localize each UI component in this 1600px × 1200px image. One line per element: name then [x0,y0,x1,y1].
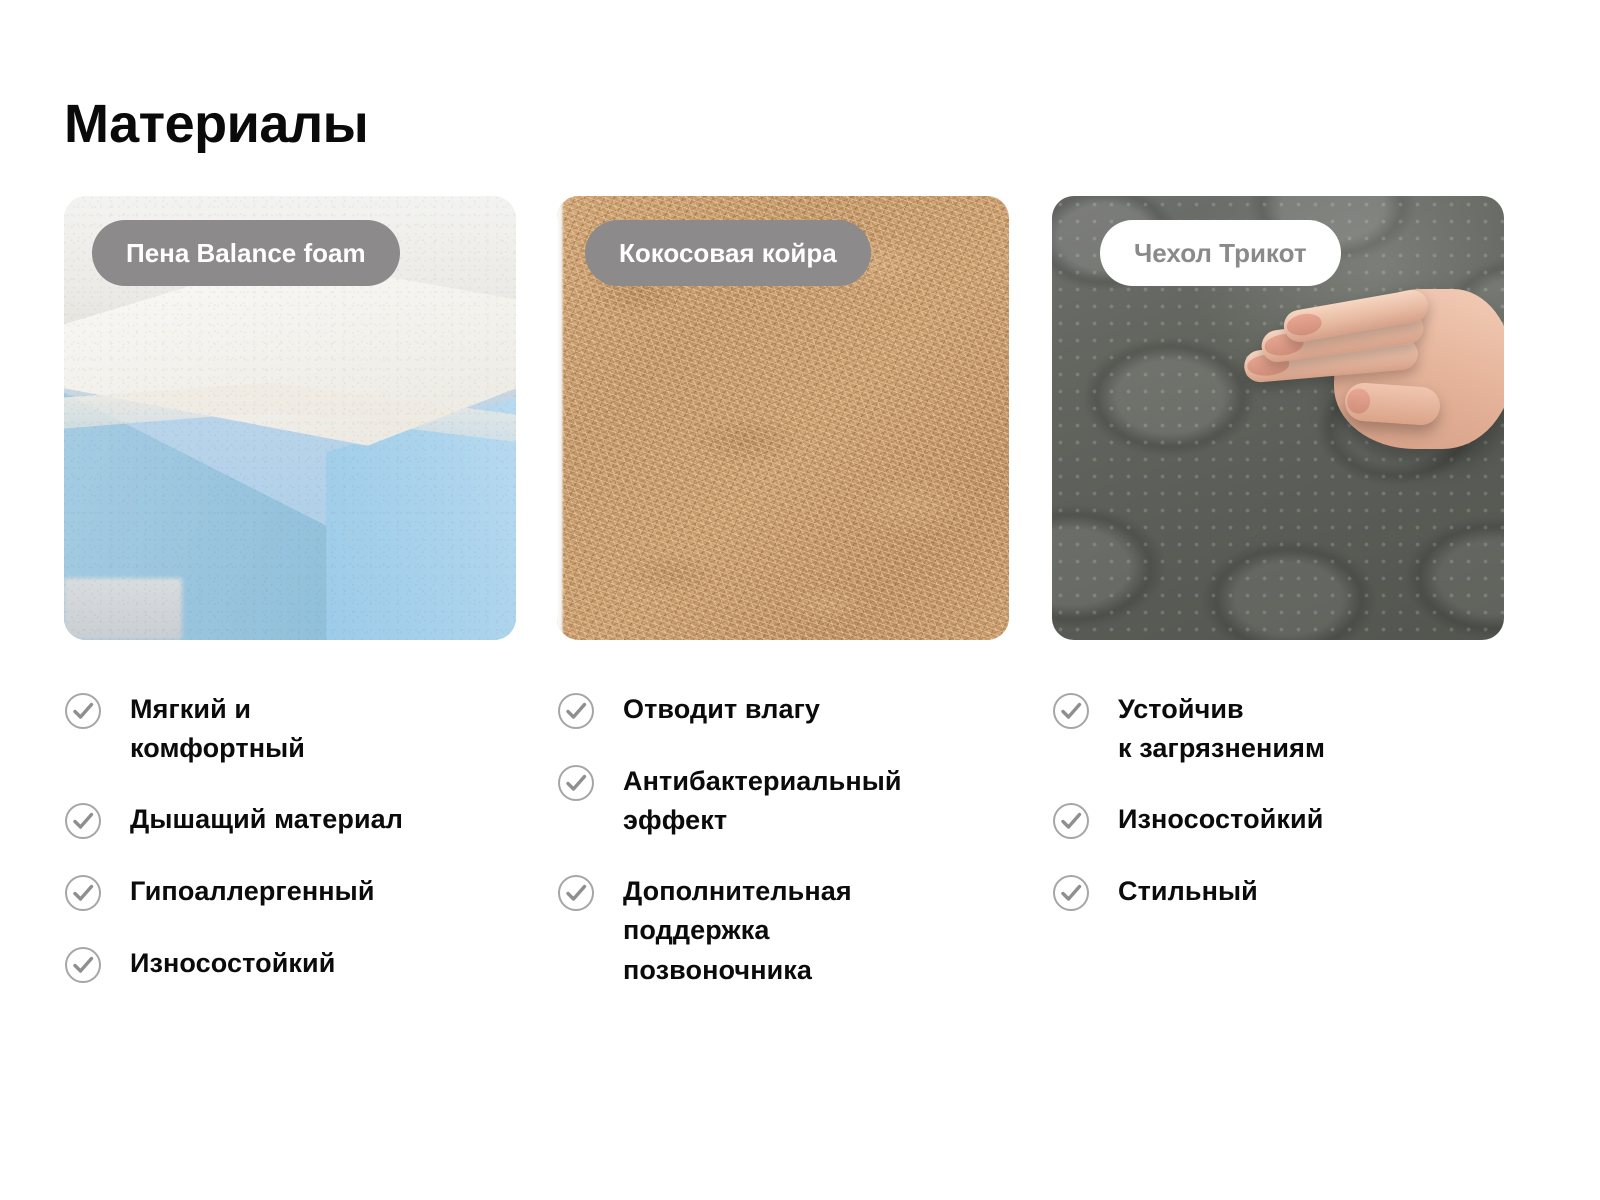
list-item: Антибактериальный эффект [557,762,1009,840]
check-circle-icon [64,802,102,840]
feature-list-foam: Мягкий и комфортный Дышащий материал Гип… [64,690,516,1016]
feature-label: Дышащий материал [130,800,403,839]
feature-label: Износостойкий [130,944,335,983]
feature-label: Стильный [1118,872,1258,911]
check-circle-icon [557,874,595,912]
materials-page: Материалы Пена Balance foam [0,0,1600,1200]
feature-list-coir: Отводит влагу Антибактериальный эффект Д… [557,690,1009,1022]
feature-label: Мягкий и комфортный [130,690,305,768]
material-cards-row: Пена Balance foam Кокосовая койра [64,196,1532,640]
material-card-foam[interactable]: Пена Balance foam [64,196,516,640]
list-item: Дополнительная поддержка позвоночника [557,872,1009,989]
check-circle-icon [1052,692,1090,730]
list-item: Стильный [1052,872,1504,912]
material-card-cover[interactable]: Чехол Трикот [1052,196,1504,640]
material-badge-cover[interactable]: Чехол Трикот [1100,220,1341,286]
list-item: Мягкий и комфортный [64,690,516,768]
hand-illustration [1233,289,1504,449]
list-item: Дышащий материал [64,800,516,840]
check-circle-icon [64,874,102,912]
check-circle-icon [557,692,595,730]
feature-label: Дополнительная поддержка позвоночника [623,872,852,989]
material-badge-coir[interactable]: Кокосовая койра [585,220,871,286]
check-circle-icon [64,692,102,730]
feature-label: Отводит влагу [623,690,820,729]
feature-label: Гипоаллергенный [130,872,375,911]
material-card-coir[interactable]: Кокосовая койра [557,196,1009,640]
page-title: Материалы [64,96,368,153]
list-item: Гипоаллергенный [64,872,516,912]
feature-list-cover: Устойчив к загрязнениям Износостойкий Ст… [1052,690,1504,944]
list-item: Износостойкий [1052,800,1504,840]
list-item: Износостойкий [64,944,516,984]
list-item: Устойчив к загрязнениям [1052,690,1504,768]
material-badge-foam[interactable]: Пена Balance foam [92,220,400,286]
check-circle-icon [557,764,595,802]
feature-label: Устойчив к загрязнениям [1118,690,1325,768]
feature-label: Антибактериальный эффект [623,762,902,840]
check-circle-icon [64,946,102,984]
list-item: Отводит влагу [557,690,1009,730]
check-circle-icon [1052,874,1090,912]
check-circle-icon [1052,802,1090,840]
feature-label: Износостойкий [1118,800,1323,839]
